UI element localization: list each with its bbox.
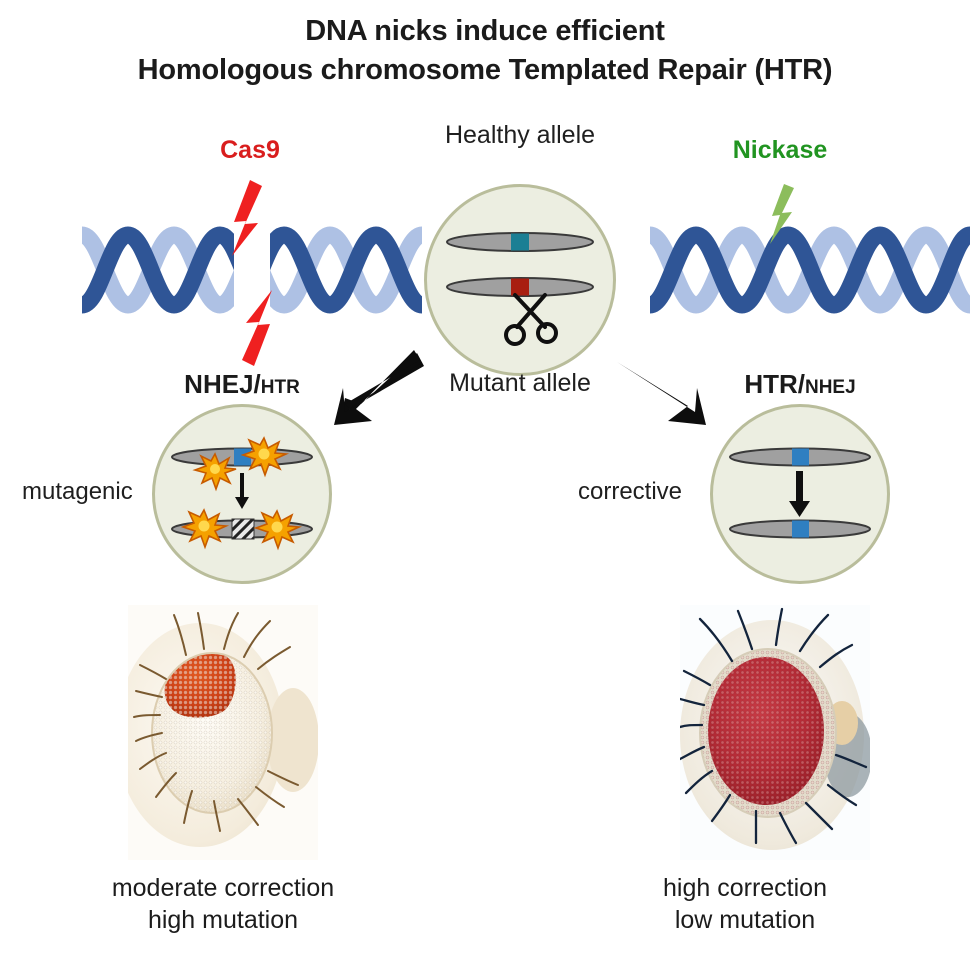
outcome-label-nhej-htr: NHEJ/HTR (142, 369, 342, 400)
outcome-right-secondary: NHEJ (805, 377, 856, 398)
mutant-allele-label: Mutant allele (420, 368, 620, 399)
outcome-left-contents (155, 407, 329, 581)
scissors-icon (506, 295, 556, 344)
outcome-left-secondary: HTR (261, 377, 300, 398)
caption-right-line-2: low mutation (545, 904, 945, 936)
nickase-label: Nickase (670, 136, 890, 165)
outcome-right-contents (713, 407, 887, 581)
note-mutagenic: mutagenic (22, 478, 133, 506)
center-cell-contents (427, 187, 613, 373)
mutant-allele-line-1: Mutant (449, 369, 525, 397)
mutant-allele-line-2: allele (533, 369, 591, 397)
outcome-left-primary: NHEJ (184, 369, 253, 399)
chromosome-healthy (447, 233, 593, 251)
chromosome-mutant (447, 278, 593, 296)
healthy-allele-label: Healthy allele (420, 120, 620, 151)
burst-icon-4 (256, 511, 299, 548)
lightning-bolt-icon-top (232, 180, 262, 256)
outcome-right-primary: HTR (744, 369, 797, 399)
fly-eye-right-svg (680, 605, 870, 860)
down-left-arrow-icon (334, 350, 424, 425)
caption-left-line-1: moderate correction (23, 872, 423, 904)
fly-eye-photo-left (128, 605, 318, 860)
outcome-cell-left (152, 404, 332, 584)
figure-canvas: DNA nicks induce efficient Homologous ch… (0, 0, 970, 960)
title-line-2: Homologous chromosome Templated Repair (… (0, 51, 970, 90)
caption-left-line-2: high mutation (23, 904, 423, 936)
cas9-label: Cas9 (140, 136, 360, 165)
burst-icon-3 (183, 510, 226, 547)
chromosome-right-bottom (730, 521, 870, 538)
outcome-cell-right (710, 404, 890, 584)
outcome-label-htr-nhej: HTR/NHEJ (700, 369, 900, 400)
note-corrective: corrective (578, 478, 682, 506)
repair-arrow-left-icon (235, 473, 249, 509)
nickase-nick-bolt (762, 182, 812, 257)
center-cell-circle (424, 184, 616, 376)
outcome-right-separator: / (798, 369, 805, 399)
caption-left: moderate correction high mutation (23, 872, 423, 936)
healthy-allele-line-1: Healthy (445, 121, 530, 149)
down-right-arrow-icon (617, 362, 706, 425)
repair-arrow-right-icon (789, 471, 810, 517)
outcome-left-separator: / (254, 369, 261, 399)
healthy-allele-line-2: allele (537, 121, 595, 149)
chromosome-right-top (730, 449, 870, 466)
lightning-bolt-icon-bottom (242, 290, 272, 366)
chromosome-left-top (172, 449, 312, 466)
title-line-1: DNA nicks induce efficient (0, 12, 970, 51)
fly-eye-photo-right (680, 605, 870, 860)
burst-icon-2 (243, 438, 286, 475)
caption-right: high correction low mutation (545, 872, 945, 936)
figure-title: DNA nicks induce efficient Homologous ch… (0, 12, 970, 90)
fly-eye-left-svg (128, 605, 318, 860)
lightning-bolt-icon-single (770, 184, 794, 244)
cas9-double-strand-break-bolts (212, 178, 292, 368)
caption-right-line-1: high correction (545, 872, 945, 904)
